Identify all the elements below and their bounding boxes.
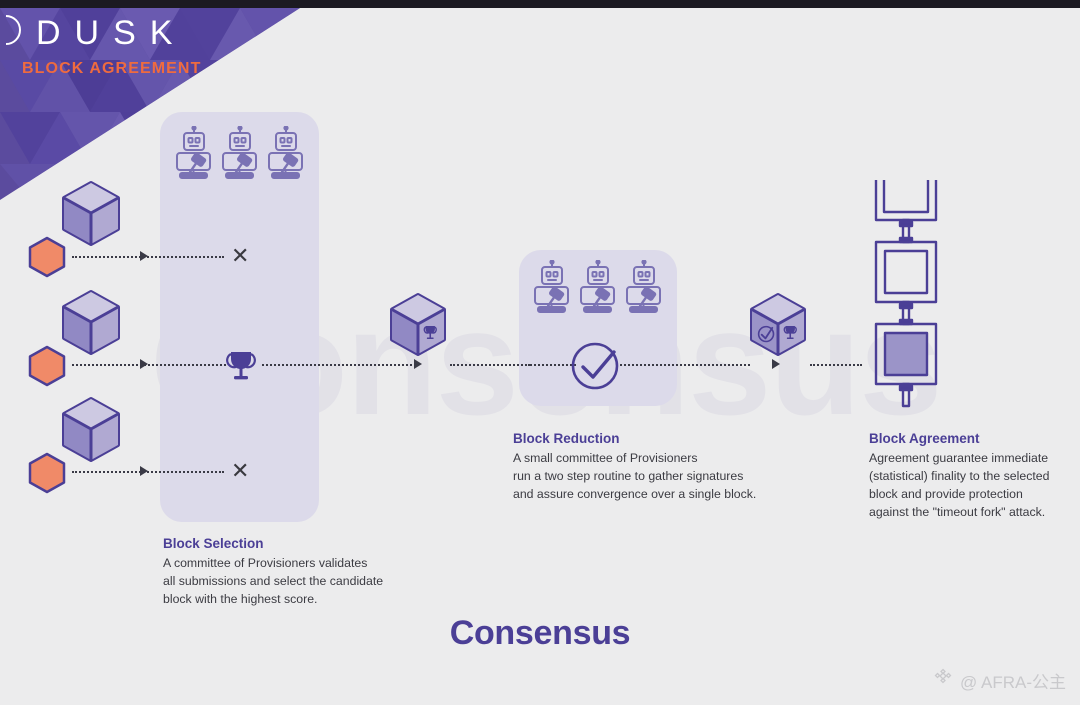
x-mark-icon: ✕ <box>231 460 249 482</box>
cube-check-trophy-icon <box>748 292 808 365</box>
cube-icon <box>60 396 122 471</box>
flow-arrow-agreed <box>772 359 780 369</box>
flow-arrow-bottom <box>140 466 148 476</box>
caption-heading: Block Selection <box>163 536 403 551</box>
caption-block-agreement: Block Agreement Agreement guarantee imme… <box>869 431 1069 522</box>
flow-arrow-top <box>140 251 148 261</box>
robot-judge-group-reduction <box>530 260 666 321</box>
caption-body: Agreement guarantee immediate (statistic… <box>869 450 1069 522</box>
corner-watermark: @ AFRA-公主 <box>933 668 1066 693</box>
cube-icon <box>60 289 122 364</box>
flow-line-reduction-right <box>616 364 750 366</box>
caption-body: A small committee of Provisioners run a … <box>513 450 783 504</box>
page-title: Consensus <box>0 614 1080 653</box>
hexagon-icon <box>27 452 67 499</box>
corner-watermark-text: @ AFRA-公主 <box>960 668 1066 693</box>
caption-block-selection: Block Selection A committee of Provision… <box>163 536 403 609</box>
flow-arrow-middle-a <box>140 359 148 369</box>
cube-trophy-icon <box>388 292 448 365</box>
trophy-icon <box>226 349 256 386</box>
flow-line-final <box>810 364 862 366</box>
check-circle-icon <box>570 340 622 397</box>
hexagon-icon <box>27 345 67 392</box>
header-banner <box>0 0 420 200</box>
caption-body: A committee of Provisioners validates al… <box>163 555 403 609</box>
caption-heading: Block Agreement <box>869 431 1069 446</box>
x-mark-icon: ✕ <box>231 245 249 267</box>
flow-line-to-reduction <box>450 364 530 366</box>
top-edge-strip <box>0 0 1080 8</box>
hexagon-icon <box>27 236 67 283</box>
infographic-canvas: Consensus <box>0 0 1080 705</box>
flow-line-top <box>72 256 224 258</box>
flow-line-middle-a <box>72 364 226 366</box>
flow-line-bottom <box>72 471 224 473</box>
caption-block-reduction: Block Reduction A small committee of Pro… <box>513 431 783 504</box>
caption-heading: Block Reduction <box>513 431 783 446</box>
blockchain-icon <box>862 178 958 413</box>
flow-arrow-middle-b <box>414 359 422 369</box>
diamond-logo-icon <box>933 668 953 693</box>
